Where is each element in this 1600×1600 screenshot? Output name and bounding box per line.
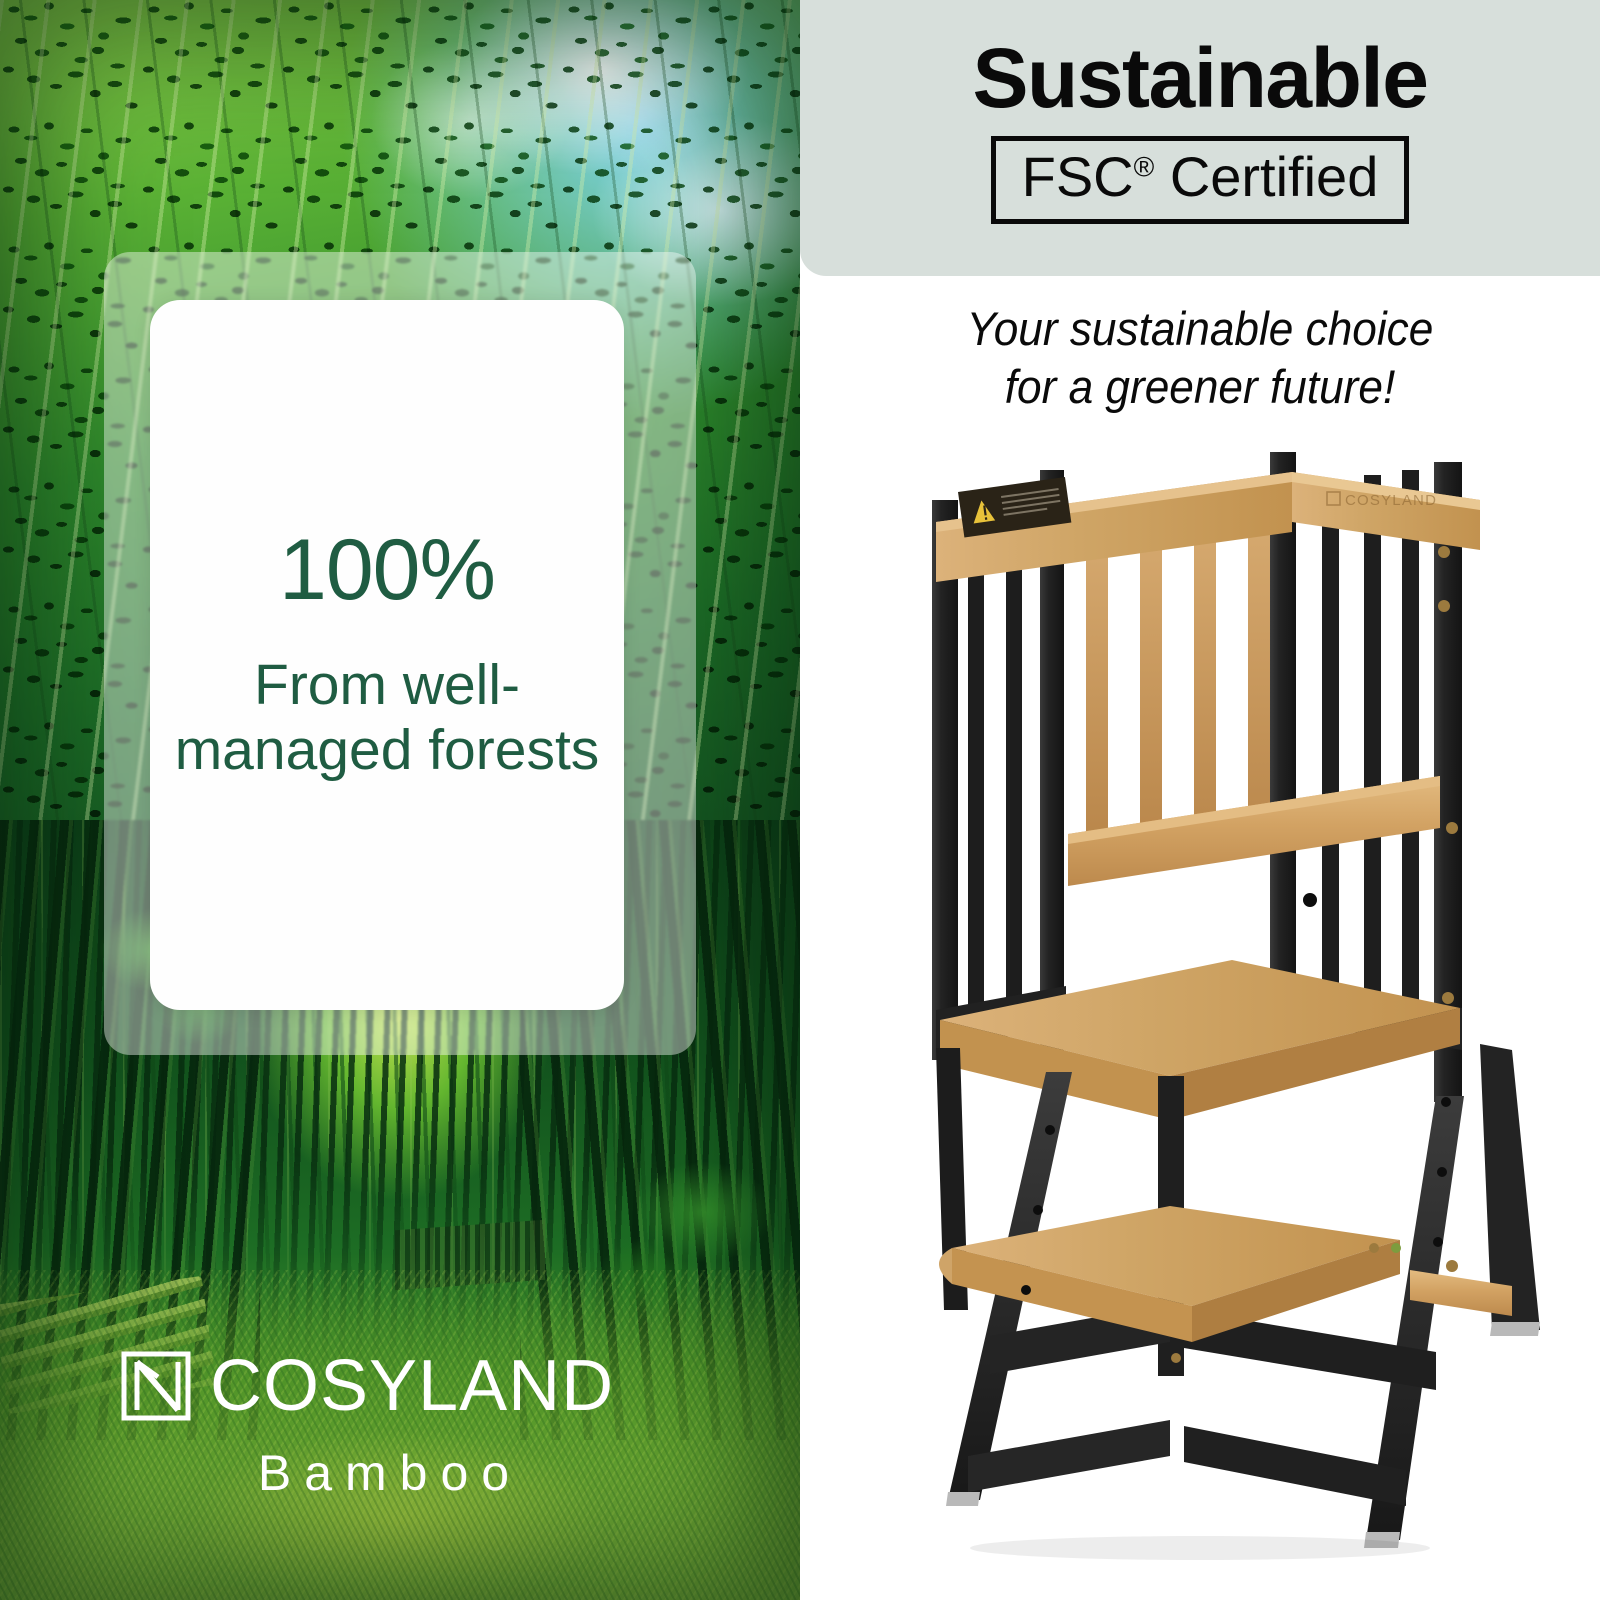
tagline-line-1: Your sustainable choice (824, 300, 1576, 358)
fact-percent: 100% (279, 527, 495, 613)
fact-card: 100% From well-managed forests (150, 300, 624, 1010)
fact-description: From well-managed forests (172, 653, 602, 783)
marketing-infographic: 100% From well-managed forests COSYLAND … (0, 0, 1600, 1600)
fsc-certified-badge: FSC® Certified (991, 136, 1410, 224)
brand-name: COSYLAND (210, 1350, 614, 1422)
registered-mark-icon: ® (1134, 151, 1155, 182)
tower-back-slats (1086, 506, 1270, 851)
bamboo-learning-tower-image: COSYLAND (840, 430, 1560, 1570)
header-band: Sustainable FSC® Certified (800, 0, 1600, 276)
cosyland-square-mark-icon (120, 1350, 192, 1422)
bamboo-forest-photo: 100% From well-managed forests COSYLAND … (0, 0, 800, 1600)
fsc-badge-prefix: FSC (1022, 145, 1134, 208)
brand-lockup: COSYLAND Bamboo (120, 1350, 720, 1498)
fsc-badge-suffix: Certified (1154, 145, 1378, 208)
tagline: Your sustainable choice for a greener fu… (824, 300, 1576, 417)
tagline-line-2: for a greener future! (824, 358, 1576, 416)
fsc-badge-text: FSC® Certified (1022, 149, 1379, 205)
brand-subtitle: Bamboo (120, 1448, 660, 1498)
page-title: Sustainable (973, 36, 1428, 120)
svg-text:COSYLAND: COSYLAND (1345, 492, 1437, 509)
right-content-panel: Sustainable FSC® Certified Your sustaina… (800, 0, 1600, 1600)
